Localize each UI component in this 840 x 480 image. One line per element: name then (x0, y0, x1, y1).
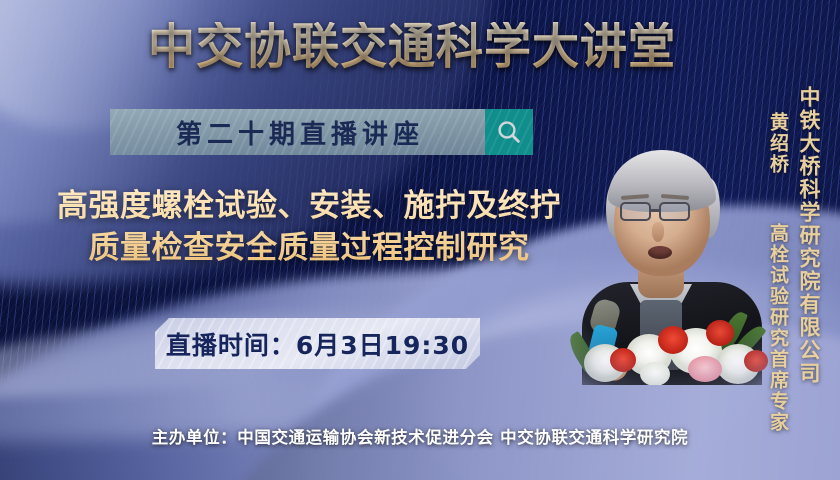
poster-canvas: 中交协联交通科学大讲堂 第二十期直播讲座 高强度螺栓试验、安装、施拧及终拧 质量… (0, 0, 840, 480)
live-time-badge: 直播时间：6月3日19:30 (155, 318, 480, 369)
speaker-name-role: 黄绍桥 高栓试验研究首席专家 (765, 112, 792, 433)
subtitle-bar-fill: 第二十期直播讲座 (110, 109, 485, 155)
glasses-bridge (651, 209, 659, 212)
page-title: 中交协联交通科学大讲堂 (148, 22, 676, 71)
footer-organizers: 主办单位：中国交通运输协会新技术促进分会 中交协联交通科学研究院 (0, 424, 840, 448)
glasses-icon (620, 202, 651, 221)
subtitle-bar-label: 第二十期直播讲座 (171, 114, 424, 151)
lecture-topic-line1: 高强度螺栓试验、安装、施拧及终拧 (57, 188, 561, 224)
search-icon (496, 119, 522, 145)
lecture-topic: 高强度螺栓试验、安装、施拧及终拧 质量检查安全质量过程控制研究 (14, 186, 604, 269)
live-time-label: 直播时间：6月3日19:30 (166, 326, 469, 362)
speaker-mouth (648, 246, 672, 259)
search-button[interactable] (485, 109, 533, 155)
lecture-topic-line2: 质量检查安全质量过程控制研究 (14, 228, 604, 270)
speaker-nose (652, 222, 664, 242)
subtitle-bar[interactable]: 第二十期直播讲座 (110, 109, 533, 155)
speaker-organization: 中铁大桥科学研究院有限公司 (794, 86, 824, 385)
glasses-lens-right (659, 202, 690, 221)
